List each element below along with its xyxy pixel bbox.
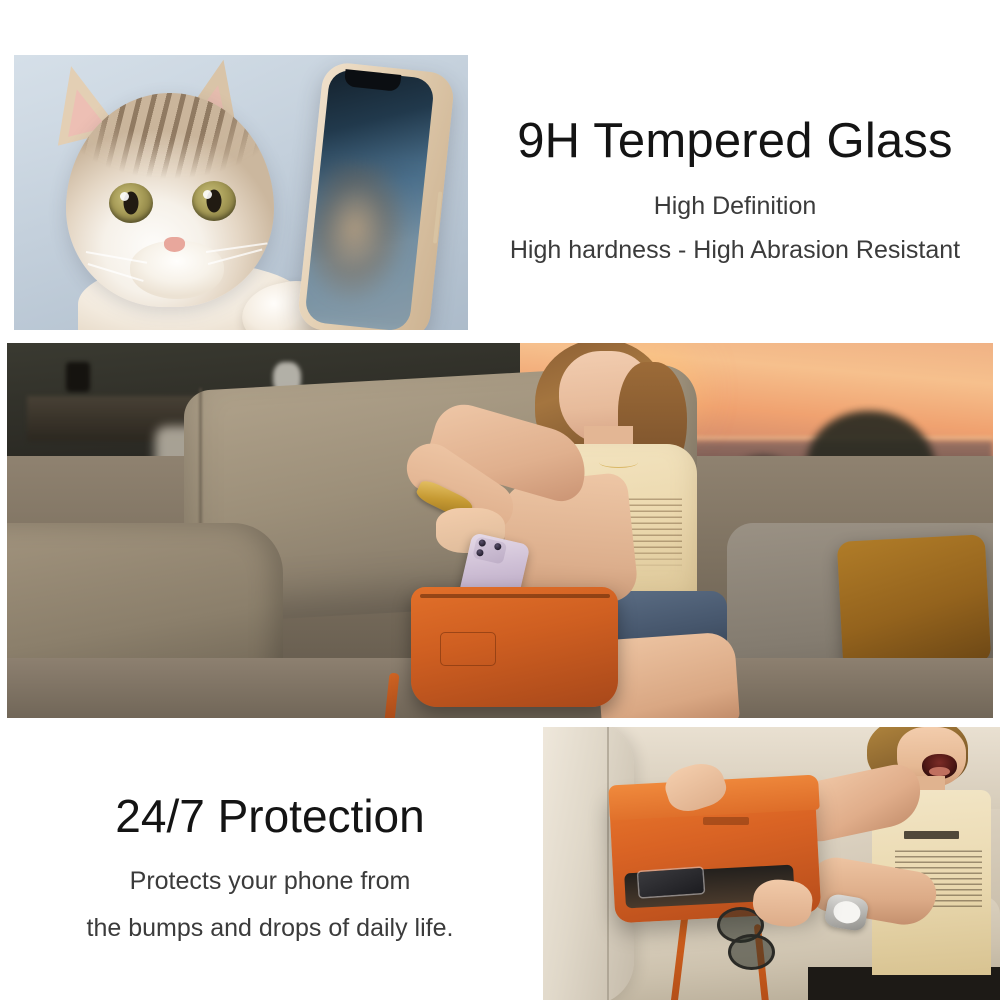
phone-inside-bag [638,868,704,897]
headline-text-block: 9H Tempered Glass High Definition High h… [470,55,1000,330]
woman-tongue [929,767,950,777]
armrest-seam [607,727,609,1000]
mustard-throw-pillow [837,534,991,669]
bag-zipper [420,594,610,598]
tank-top-brand-word [904,831,959,839]
cat-eye-left [109,183,153,223]
watch-face [832,900,862,926]
decor-cup [66,362,90,392]
woman-sofa-sunset-photo [7,343,993,718]
cat-with-phone-photo [14,55,468,330]
headline-title: 9H Tempered Glass [517,117,953,166]
bag-brand-emboss [703,817,749,825]
orange-leather-bag [411,587,618,707]
protection-text-block: 24/7 Protection Protects your phone from… [0,740,540,1000]
bag-brand-tab [440,632,496,665]
cat-eye-right [192,181,236,221]
protection-line-1: Protects your phone from [130,863,411,901]
headline-line-2: High hardness - High Abrasion Resistant [510,232,960,268]
woman-surprised-bag-photo [543,727,1000,1000]
protection-line-2: the bumps and drops of daily life. [87,910,454,948]
iphone-device [296,61,455,330]
marketing-collage: 9H Tempered Glass High Definition High h… [0,0,1000,1000]
protection-title: 24/7 Protection [115,793,424,839]
headline-line-1: High Definition [654,188,817,224]
cat-nose [164,237,185,252]
